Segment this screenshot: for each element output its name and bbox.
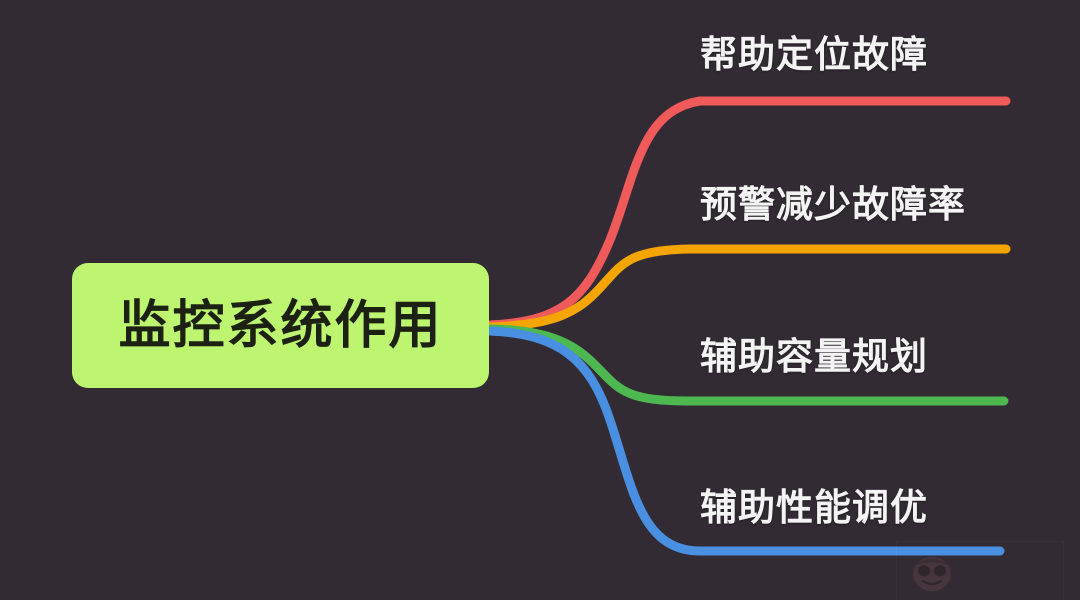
branch-label-1[interactable]: 帮助定位故障 [700, 36, 928, 73]
root-node[interactable]: 监控系统作用 [72, 263, 489, 388]
watermark [896, 541, 1064, 600]
branch-label-3[interactable]: 辅助容量规划 [700, 338, 928, 375]
root-node-label: 监控系统作用 [118, 300, 442, 352]
mindmap-canvas: 监控系统作用 帮助定位故障 预警减少故障率 辅助容量规划 辅助性能调优 [0, 0, 1080, 600]
face-logo-icon [909, 549, 955, 593]
branch-curve-2 [490, 249, 1006, 327]
branch-label-2[interactable]: 预警减少故障率 [700, 186, 966, 223]
branch-label-4[interactable]: 辅助性能调优 [700, 489, 928, 526]
